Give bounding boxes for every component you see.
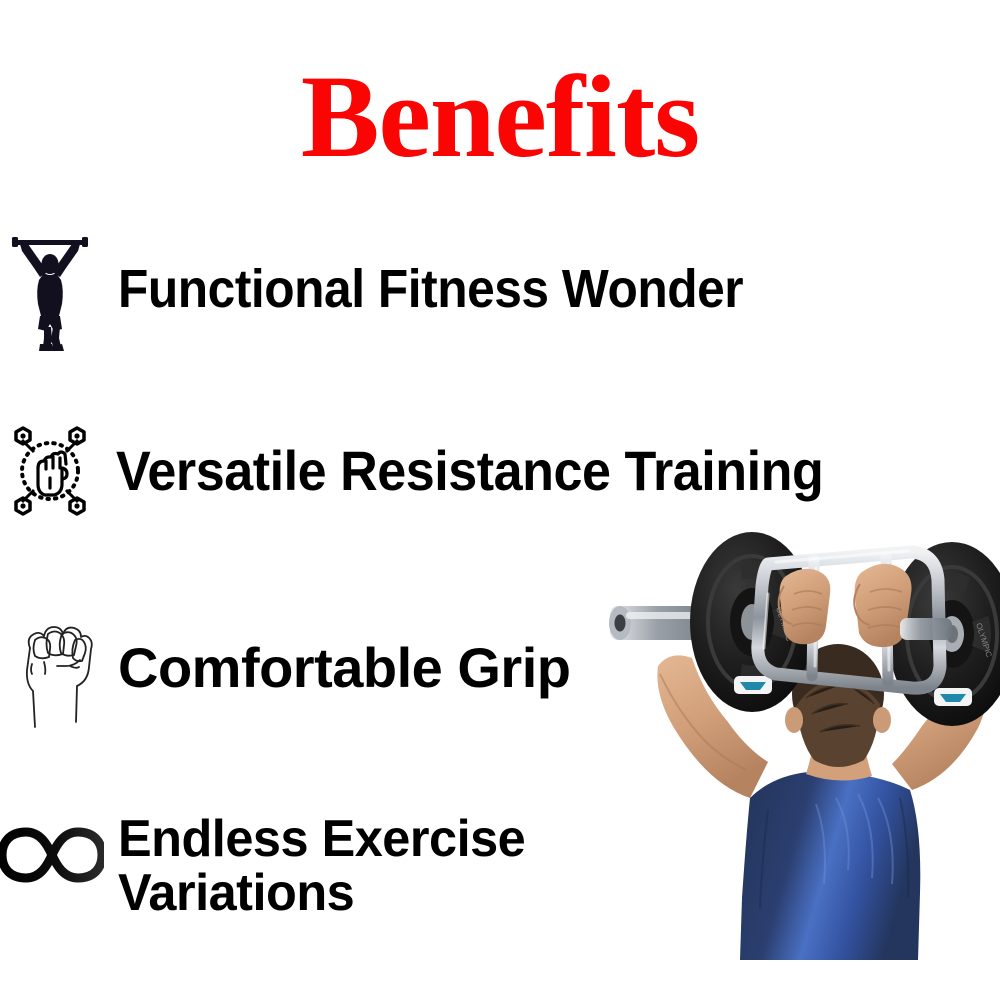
- benefit-item-3: Comfortable Grip: [0, 604, 570, 732]
- clenched-fist-outline-icon: [8, 604, 104, 732]
- infinity-icon: [0, 818, 104, 892]
- benefit-item-4: Endless Exercise Variations: [0, 812, 538, 920]
- page-title: Benefits: [0, 58, 1000, 176]
- benefit-label-2: Versatile Resistance Training: [116, 442, 823, 499]
- fist-network-nodes-icon: [2, 420, 98, 522]
- pull-up-bar-athlete-icon: [6, 228, 102, 352]
- benefit-label-1: Functional Fitness Wonder: [118, 262, 743, 317]
- man-pressing-multi-grip-barbell-photo: OLYMPIC OLYMPIC: [600, 498, 1000, 968]
- benefit-item-1: Functional Fitness Wonder: [0, 228, 798, 352]
- benefits-infographic: Benefits: [0, 0, 1000, 1000]
- benefit-label-3: Comfortable Grip: [118, 639, 570, 696]
- benefit-label-4: Endless Exercise Variations: [118, 812, 525, 920]
